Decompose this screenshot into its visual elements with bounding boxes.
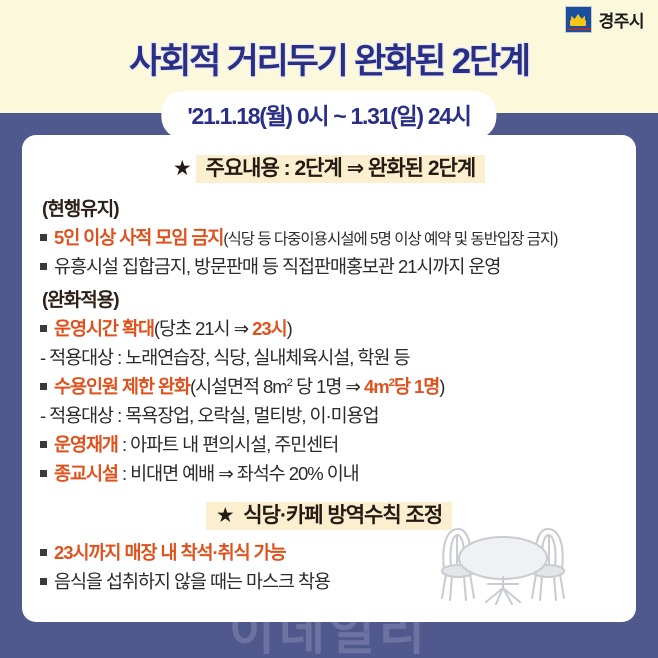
row-text: 23시까지 매장 내 착석·취식 가능 bbox=[54, 541, 286, 564]
content-row: 수용인원 제한 완화(시설면적 8m2 당 1명 ⇒ 4m2당 1명) bbox=[40, 375, 618, 398]
row-text: 수용인원 제한 완화(시설면적 8m2 당 1명 ⇒ 4m2당 1명) bbox=[54, 375, 444, 398]
square-bullet-icon bbox=[40, 441, 47, 448]
row-text: 적용대상 : 목욕장업, 오락실, 멀티방, 이·미용업 bbox=[49, 404, 378, 427]
body-text: 적용대상 : 목욕장업, 오락실, 멀티방, 이·미용업 bbox=[49, 405, 378, 426]
body-text: (시설면적 8m2 당 1명 ⇒ bbox=[190, 376, 364, 397]
row-text: 유흥시설 집합금지, 방문판매 등 직접판매홍보관 21시까지 운영 bbox=[54, 255, 500, 278]
group-label: (완화적용) bbox=[42, 285, 618, 312]
accent-text: 운영시간 확대 bbox=[54, 318, 154, 339]
body-text: 적용대상 : 노래연습장, 식당, 실내체육시설, 학원 등 bbox=[49, 347, 409, 368]
accent-text: 5인 이상 사적 모임 금지 bbox=[54, 227, 223, 248]
row-text: 종교시설 : 비대면 예배 ⇒ 좌석수 20% 이내 bbox=[54, 462, 359, 485]
square-bullet-icon bbox=[40, 470, 47, 477]
page-title: 사회적 거리두기 완화된 2단계 bbox=[0, 33, 658, 84]
content-row: 종교시설 : 비대면 예배 ⇒ 좌석수 20% 이내 bbox=[40, 462, 618, 485]
row-text: 음식을 섭취하지 않을 때는 마스크 착용 bbox=[54, 570, 330, 593]
accent-text: 운영재개 bbox=[54, 434, 118, 455]
square-bullet-icon bbox=[40, 549, 47, 556]
section-heading: ★ 주요내용 : 2단계 ⇒ 완화된 2단계 bbox=[40, 152, 618, 182]
content-row: 운영시간 확대(당초 21시 ⇒ 23시) bbox=[40, 317, 618, 340]
square-bullet-icon bbox=[40, 263, 47, 270]
content-row: 5인 이상 사적 모임 금지(식당 등 다중이용시설에 5명 이상 예약 및 동… bbox=[40, 226, 618, 249]
content-row: -적용대상 : 목욕장업, 오락실, 멀티방, 이·미용업 bbox=[40, 404, 618, 427]
gyeongju-city-emblem-icon bbox=[565, 6, 592, 33]
content-card: ★ 주요내용 : 2단계 ⇒ 완화된 2단계(현행유지)5인 이상 사적 모임 … bbox=[22, 135, 636, 622]
city-logo: 경주시 bbox=[565, 6, 644, 33]
dash-marker: - bbox=[40, 346, 45, 369]
content-row: 운영재개 : 아파트 내 편의시설, 주민센터 bbox=[40, 433, 618, 456]
row-text: 적용대상 : 노래연습장, 식당, 실내체육시설, 학원 등 bbox=[49, 346, 409, 369]
square-bullet-icon bbox=[40, 578, 47, 585]
table-and-chairs-icon bbox=[428, 514, 578, 606]
star-icon: ★ bbox=[173, 157, 191, 180]
body-text: (당초 21시 ⇒ bbox=[154, 318, 252, 339]
accent-text: 종교시설 bbox=[54, 463, 118, 484]
row-text: 5인 이상 사적 모임 금지(식당 등 다중이용시설에 5명 이상 예약 및 동… bbox=[54, 226, 557, 249]
body-text: (식당 등 다중이용시설에 5명 이상 예약 및 동반입장 금지) bbox=[223, 231, 557, 248]
square-bullet-icon bbox=[40, 325, 47, 332]
accent-text: 23시까지 매장 내 착석·취식 가능 bbox=[54, 542, 286, 563]
content-row: -적용대상 : 노래연습장, 식당, 실내체육시설, 학원 등 bbox=[40, 346, 618, 369]
body-text: 유흥시설 집합금지, 방문판매 등 직접판매홍보관 21시까지 운영 bbox=[54, 256, 500, 277]
square-bullet-icon bbox=[40, 383, 47, 390]
city-logo-label: 경주시 bbox=[599, 7, 644, 32]
body-text: : 아파트 내 편의시설, 주민센터 bbox=[118, 434, 338, 455]
square-bullet-icon bbox=[40, 234, 47, 241]
row-text: 운영시간 확대(당초 21시 ⇒ 23시) bbox=[54, 317, 292, 340]
group-label: (현행유지) bbox=[42, 194, 618, 221]
accent-text: 4m2당 1명 bbox=[364, 376, 439, 397]
body-text: ) bbox=[287, 318, 292, 339]
dash-marker: - bbox=[40, 404, 45, 427]
star-icon: ★ bbox=[216, 504, 234, 527]
accent-text: 수용인원 제한 완화 bbox=[54, 376, 190, 397]
row-text: 운영재개 : 아파트 내 편의시설, 주민센터 bbox=[54, 433, 338, 456]
body-text: ) bbox=[439, 376, 444, 397]
date-range-badge: '21.1.18(월) 0시 ~ 1.31(일) 24시 bbox=[161, 91, 496, 139]
content-row: 유흥시설 집합금지, 방문판매 등 직접판매홍보관 21시까지 운영 bbox=[40, 255, 618, 278]
accent-text: 23시 bbox=[252, 318, 286, 339]
body-text: 음식을 섭취하지 않을 때는 마스크 착용 bbox=[54, 571, 330, 592]
body-text: : 비대면 예배 ⇒ 좌석수 20% 이내 bbox=[118, 463, 359, 484]
